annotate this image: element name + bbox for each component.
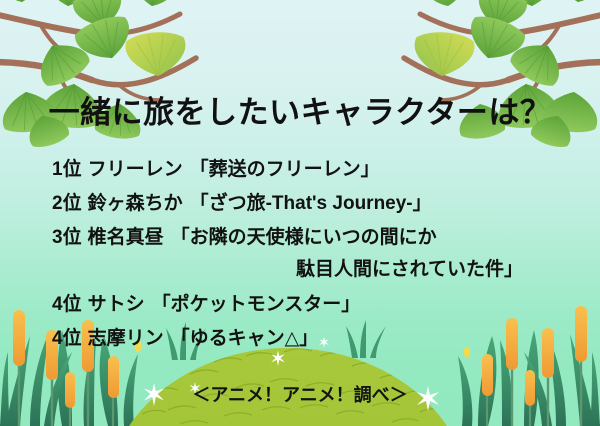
ranking-list: 1位フリーレン「葬送のフリーレン」 2位鈴ヶ森ちか「ざつ旅-That's Jou… — [52, 160, 552, 363]
list-item: 2位鈴ヶ森ちか「ざつ旅-That's Journey-」 — [52, 194, 552, 213]
work-title: 「ゆるキャン△」 — [171, 328, 319, 349]
list-item: 4位志摩リン「ゆるキャン△」 — [52, 329, 552, 348]
rank-label: 4位 — [52, 294, 82, 315]
poster-canvas: 一緒に旅をしたいキャラクターは？ 1位フリーレン「葬送のフリーレン」 2位鈴ヶ森… — [0, 0, 600, 426]
list-item: 3位椎名真昼「お隣の天使様にいつの間にか — [52, 228, 552, 247]
character-name: 鈴ヶ森ちか — [88, 193, 183, 214]
character-name: サトシ — [88, 294, 145, 315]
list-item: 1位フリーレン「葬送のフリーレン」 — [52, 160, 552, 179]
work-title: 「ポケットモンスター」 — [152, 294, 361, 315]
work-title: 「葬送のフリーレン」 — [190, 159, 380, 180]
work-title: 「お隣の天使様にいつの間にか — [171, 227, 437, 248]
character-name: フリーレン — [88, 159, 183, 180]
rank-label: 4位 — [52, 328, 82, 349]
list-item: 4位サトシ「ポケットモンスター」 — [52, 295, 552, 314]
page-title: 一緒に旅をしたいキャラクターは？ — [0, 96, 600, 130]
rank-label: 1位 — [52, 159, 82, 180]
rank-label: 3位 — [52, 227, 82, 248]
source-credit: ＜アニメ！アニメ！調べ＞ — [0, 381, 600, 407]
character-name: 椎名真昼 — [88, 227, 164, 248]
work-title: 「ざつ旅-That's Journey-」 — [190, 193, 432, 214]
work-title-continuation: 駄目人間にされていた件」 — [52, 260, 552, 279]
character-name: 志摩リン — [88, 328, 164, 349]
rank-label: 2位 — [52, 193, 82, 214]
